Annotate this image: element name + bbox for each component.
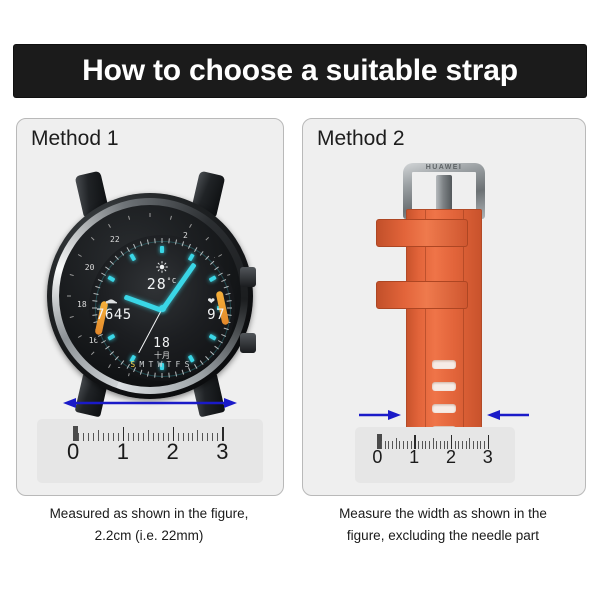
ruler-label: 3 bbox=[483, 447, 493, 468]
watch-crown-upper bbox=[240, 267, 256, 287]
watch-illustration: 246810121416182022 bbox=[35, 171, 265, 421]
bezel-tick bbox=[78, 254, 82, 257]
watch-case: 246810121416182022 bbox=[47, 193, 253, 399]
strap-keeper bbox=[376, 219, 468, 247]
dial-temperature-unit: °C bbox=[167, 277, 177, 285]
method-2-caption: Measure the width as shown in the figure… bbox=[302, 503, 584, 547]
measure-arrow-inward-pair bbox=[359, 407, 529, 423]
ruler-label: 2 bbox=[166, 439, 178, 465]
bezel-tick bbox=[189, 224, 192, 228]
shoe-icon bbox=[105, 297, 118, 305]
bezel-tick bbox=[70, 316, 74, 318]
dial-temperature-value: 28 bbox=[147, 275, 167, 293]
ruler-method-1: 0123 bbox=[37, 419, 263, 483]
bezel-tick bbox=[91, 352, 95, 356]
dial-heart-rate: 97 bbox=[207, 307, 225, 323]
bezel-tick bbox=[128, 216, 130, 220]
bezel-number: 18 bbox=[77, 300, 87, 309]
bezel-number: 20 bbox=[85, 263, 95, 272]
dial-date-day: 18 bbox=[153, 336, 171, 351]
method-2-caption-line-1: Measure the width as shown in the bbox=[302, 503, 584, 525]
strap-keeper bbox=[376, 281, 468, 309]
dial-weekday-row: SMTWTFS bbox=[89, 360, 235, 369]
dial-weekday: S bbox=[185, 360, 194, 369]
ruler-2-labels: 0123 bbox=[355, 447, 515, 477]
dial-minute-tick bbox=[162, 373, 163, 378]
sun-icon bbox=[156, 261, 168, 273]
bezel-tick bbox=[108, 224, 111, 228]
dial-minute-tick bbox=[227, 308, 232, 309]
heart-icon: ❤ bbox=[207, 296, 215, 307]
dial-minute-tick bbox=[93, 293, 98, 295]
bezel-tick bbox=[170, 216, 172, 220]
ruler-method-2: 0123 bbox=[355, 427, 515, 483]
watch-dial: 28°C 7645 ❤ 97 18 十月 SMTWTFS bbox=[89, 235, 235, 381]
method-2-panel: Method 2 HUAWEI bbox=[302, 118, 586, 496]
dial-minute-tick bbox=[154, 238, 156, 243]
dial-weekday: F bbox=[176, 360, 185, 369]
watch-hand-pivot bbox=[159, 305, 166, 312]
watch-bezel-black: 246810121416182022 bbox=[59, 205, 241, 387]
bezel-tick bbox=[206, 237, 210, 241]
ruler-label: 3 bbox=[216, 439, 228, 465]
dial-weekday: T bbox=[167, 360, 176, 369]
bezel-tick bbox=[67, 296, 71, 297]
dial-minute-tick bbox=[92, 300, 97, 302]
buckle-brand-label: HUAWEI bbox=[426, 164, 462, 171]
ruler-label: 1 bbox=[409, 447, 419, 468]
bezel-tick bbox=[70, 274, 74, 276]
strap-hole bbox=[432, 382, 456, 391]
dial-hour-marker bbox=[160, 246, 164, 253]
bezel-number: 22 bbox=[110, 235, 120, 244]
ruler-label: 2 bbox=[446, 447, 456, 468]
dial-date: 18 十月 bbox=[153, 332, 171, 361]
dial-minute-tick bbox=[162, 238, 163, 243]
dial-step-count: 7645 bbox=[96, 307, 132, 323]
page-root: How to choose a suitable strap Method 1 … bbox=[0, 0, 600, 600]
ruler-label: 1 bbox=[117, 439, 129, 465]
bezel-tick bbox=[218, 254, 222, 257]
ruler-1-labels: 0123 bbox=[37, 439, 263, 469]
bezel-tick bbox=[150, 213, 151, 217]
measure-arrow-double bbox=[63, 395, 237, 411]
ruler-label: 0 bbox=[372, 447, 382, 468]
dial-minute-tick bbox=[147, 239, 149, 244]
watch-crown-lower bbox=[240, 333, 256, 353]
method-2-caption-line-2: figure, excluding the needle part bbox=[302, 525, 584, 547]
method-1-caption: Measured as shown in the figure, 2.2cm (… bbox=[16, 503, 282, 547]
method-1-title: Method 1 bbox=[31, 127, 119, 151]
page-title: How to choose a suitable strap bbox=[82, 54, 518, 88]
bezel-tick bbox=[78, 335, 82, 338]
method-1-panel: Method 1 246810121416182022 bbox=[16, 118, 284, 496]
dial-weekday: W bbox=[157, 360, 166, 369]
method-1-caption-line-1: Measured as shown in the figure, bbox=[16, 503, 282, 525]
method-1-caption-line-2: 2.2cm (i.e. 22mm) bbox=[16, 525, 282, 547]
bezel-tick bbox=[91, 237, 95, 241]
strap-hole bbox=[432, 360, 456, 369]
page-title-banner: How to choose a suitable strap bbox=[14, 45, 586, 97]
method-2-title: Method 2 bbox=[317, 127, 405, 151]
ruler-label: 0 bbox=[67, 439, 79, 465]
